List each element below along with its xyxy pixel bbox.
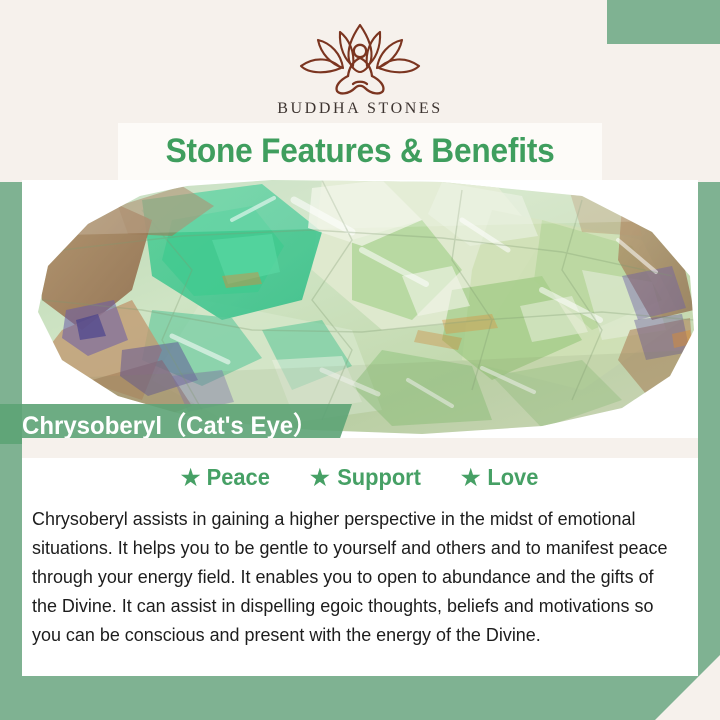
page-title: Stone Features & Benefits (166, 132, 555, 171)
star-icon: ★ (310, 467, 330, 489)
keyword-support: ★ Support (310, 464, 423, 491)
content-panel: ★ Peace ★ Support ★ Love Chrysoberyl ass… (22, 438, 698, 676)
lotus-meditation-icon (285, 22, 435, 96)
page-title-band: Stone Features & Benefits (118, 123, 602, 180)
stone-photo (22, 180, 698, 438)
chrysoberyl-stone-illustration (22, 180, 698, 438)
stone-info-card: BUDDHA STONES Stone Features & Benefits (0, 0, 720, 720)
keyword-list: ★ Peace ★ Support ★ Love (22, 464, 698, 491)
stone-name: Chrysoberyl（Cat's Eye） (22, 406, 317, 442)
keyword-label: Love (487, 464, 538, 491)
star-icon: ★ (461, 467, 481, 489)
star-icon: ★ (181, 467, 201, 489)
stone-description: Chrysoberyl assists in gaining a higher … (32, 504, 672, 649)
keyword-label: Support (337, 464, 421, 491)
content-top-strip (22, 438, 698, 458)
keyword-peace: ★ Peace (181, 464, 272, 491)
brand-wordmark: BUDDHA STONES (277, 100, 443, 118)
brand-logo: BUDDHA STONES (0, 22, 720, 118)
keyword-label: Peace (207, 464, 270, 491)
keyword-love: ★ Love (461, 464, 539, 491)
